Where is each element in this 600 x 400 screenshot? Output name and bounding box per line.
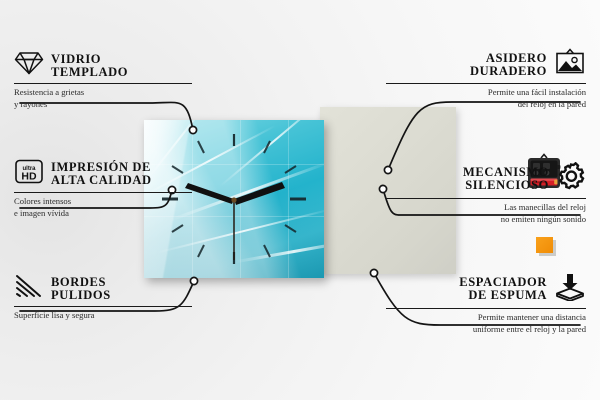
feature-description: Las manecillas del reloj no emiten ningú… <box>378 202 586 225</box>
feature-title-line1: ASIDERO <box>486 52 547 65</box>
gear-icon <box>556 162 586 196</box>
feature-desc-line2: uniforme entre el reloj y la pared <box>473 324 586 334</box>
feature-espaciador-espuma: ESPACIADOR DE ESPUMA Permite mantener un… <box>378 272 586 335</box>
polished-edges-icon <box>14 273 44 304</box>
infographic-stage: VIDRIO TEMPLADO Resistencia a grietas y … <box>0 0 600 400</box>
feature-desc-line1: Resistencia a grietas <box>14 87 84 97</box>
feature-desc-line2: y rayones <box>14 99 47 109</box>
ultra-hd-bottom-text: HD <box>21 171 37 183</box>
feature-description: Colores intensos e imagen vívida <box>14 196 224 219</box>
feature-divider <box>386 198 586 199</box>
feature-title-line1: VIDRIO <box>51 53 128 66</box>
picture-hanger-icon <box>554 48 586 81</box>
feature-divider <box>14 83 192 84</box>
feature-asidero-duradero: ASIDERO DURADERO Permite una fácil insta… <box>378 48 586 110</box>
feature-title-line2: DE ESPUMA <box>468 289 547 302</box>
feature-bordes-pulidos: BORDES PULIDOS Superficie lisa y segura <box>14 273 224 322</box>
feature-title-line2: PULIDOS <box>51 289 111 302</box>
feature-title-line2: SILENCIOSO <box>465 179 549 192</box>
clock-minute-hand <box>234 182 285 205</box>
diamond-icon <box>14 50 44 81</box>
feature-desc-line2: e imagen vívida <box>14 208 69 218</box>
feature-divider <box>386 83 586 84</box>
ultra-hd-badge-icon: ultra HD <box>14 158 44 190</box>
feature-description: Permite una fácil instalación del reloj … <box>378 87 586 110</box>
feature-description: Superficie lisa y segura <box>14 310 224 321</box>
foam-spacer-icon <box>554 272 586 306</box>
feature-description: Resistencia a grietas y rayones <box>14 87 224 110</box>
feature-desc-line1: Permite una fácil instalación <box>488 87 586 97</box>
feature-impresion-alta-calidad: ultra HD IMPRESIÓN DE ALTA CALIDAD Color… <box>14 158 224 219</box>
feature-divider <box>14 306 192 307</box>
feature-title-line2: ALTA CALIDAD <box>51 174 152 187</box>
feature-title-line2: TEMPLADO <box>51 66 128 79</box>
feature-title-line2: DURADERO <box>470 65 547 78</box>
clock-center-pin <box>231 197 236 202</box>
feature-divider <box>386 308 586 309</box>
feature-desc-line2: del reloj en la pared <box>518 99 586 109</box>
feature-vidrio-templado: VIDRIO TEMPLADO Resistencia a grietas y … <box>14 50 224 110</box>
feature-mecanismo-silencioso: MECANISMO SILENCIOSO Las manecillas del … <box>378 162 586 225</box>
feature-divider <box>14 192 192 193</box>
foam-spacer-piece <box>536 237 553 253</box>
feature-desc-line2: no emiten ningún sonido <box>501 214 586 224</box>
feature-description: Permite mantener una distancia uniforme … <box>378 312 586 335</box>
feature-desc-line1: Permite mantener una distancia <box>478 312 586 322</box>
feature-desc-line1: Superficie lisa y segura <box>14 310 94 320</box>
feature-desc-line1: Las manecillas del reloj <box>504 202 586 212</box>
feature-desc-line1: Colores intensos <box>14 196 71 206</box>
feature-title-line1: BORDES <box>51 276 111 289</box>
